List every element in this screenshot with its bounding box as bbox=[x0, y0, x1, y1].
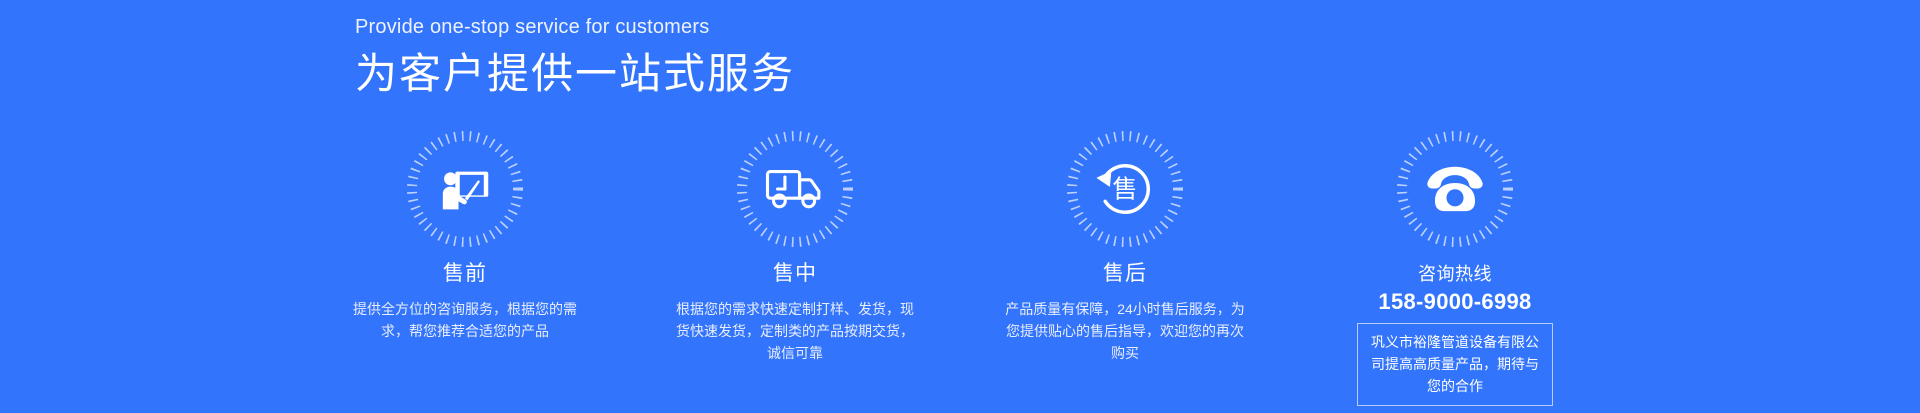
page-title: 为客户提供一站式服务 bbox=[355, 48, 795, 100]
service-column-insale[interactable]: 售中 根据您的需求快速定制打样、发货，现货快速发货，定制类的产品按期交货，诚信可… bbox=[630, 128, 960, 406]
delivery-truck-clock-icon bbox=[757, 151, 833, 227]
service-column-presale[interactable]: 售前 提供全方位的咨询服务，根据您的需求，帮您推荐合适您的产品 bbox=[300, 128, 630, 406]
hotline-title: 咨询热线 bbox=[1418, 260, 1492, 288]
medallion-aftersale: 售 bbox=[1064, 128, 1186, 250]
company-note-box: 巩义市裕隆管道设备有限公司提高高质量产品，期待与您的合作 bbox=[1357, 323, 1553, 406]
service-title: 售前 bbox=[443, 260, 487, 288]
service-banner: Provide one-stop service for customers 为… bbox=[0, 0, 1920, 413]
medallion-presale bbox=[404, 128, 526, 250]
service-title: 售后 bbox=[1103, 260, 1147, 288]
presenter-whiteboard-icon bbox=[427, 151, 503, 227]
hotline-phone-number[interactable]: 158-9000-6998 bbox=[1378, 288, 1531, 316]
english-subtitle: Provide one-stop service for customers bbox=[355, 14, 795, 40]
service-column-aftersale[interactable]: 售 售后 产品质量有保障，24小时售后服务，为您提供贴心的售后指导，欢迎您的再次… bbox=[960, 128, 1290, 406]
telephone-icon bbox=[1417, 151, 1493, 227]
service-description: 根据您的需求快速定制打样、发货，现货快速发货，定制类的产品按期交货，诚信可靠 bbox=[670, 298, 920, 364]
banner-header: Provide one-stop service for customers 为… bbox=[355, 14, 795, 100]
medallion-insale bbox=[734, 128, 856, 250]
service-title: 售中 bbox=[773, 260, 817, 288]
service-description: 提供全方位的咨询服务，根据您的需求，帮您推荐合适您的产品 bbox=[340, 298, 590, 342]
medallion-hotline bbox=[1394, 128, 1516, 250]
service-columns: 售前 提供全方位的咨询服务，根据您的需求，帮您推荐合适您的产品 bbox=[300, 128, 1620, 406]
after-sales-refresh-icon: 售 bbox=[1087, 151, 1163, 227]
svg-text:售: 售 bbox=[1112, 176, 1137, 204]
service-column-hotline[interactable]: 咨询热线 158-9000-6998 巩义市裕隆管道设备有限公司提高高质量产品，… bbox=[1290, 128, 1620, 406]
service-description: 产品质量有保障，24小时售后服务，为您提供贴心的售后指导，欢迎您的再次购买 bbox=[1000, 298, 1250, 364]
